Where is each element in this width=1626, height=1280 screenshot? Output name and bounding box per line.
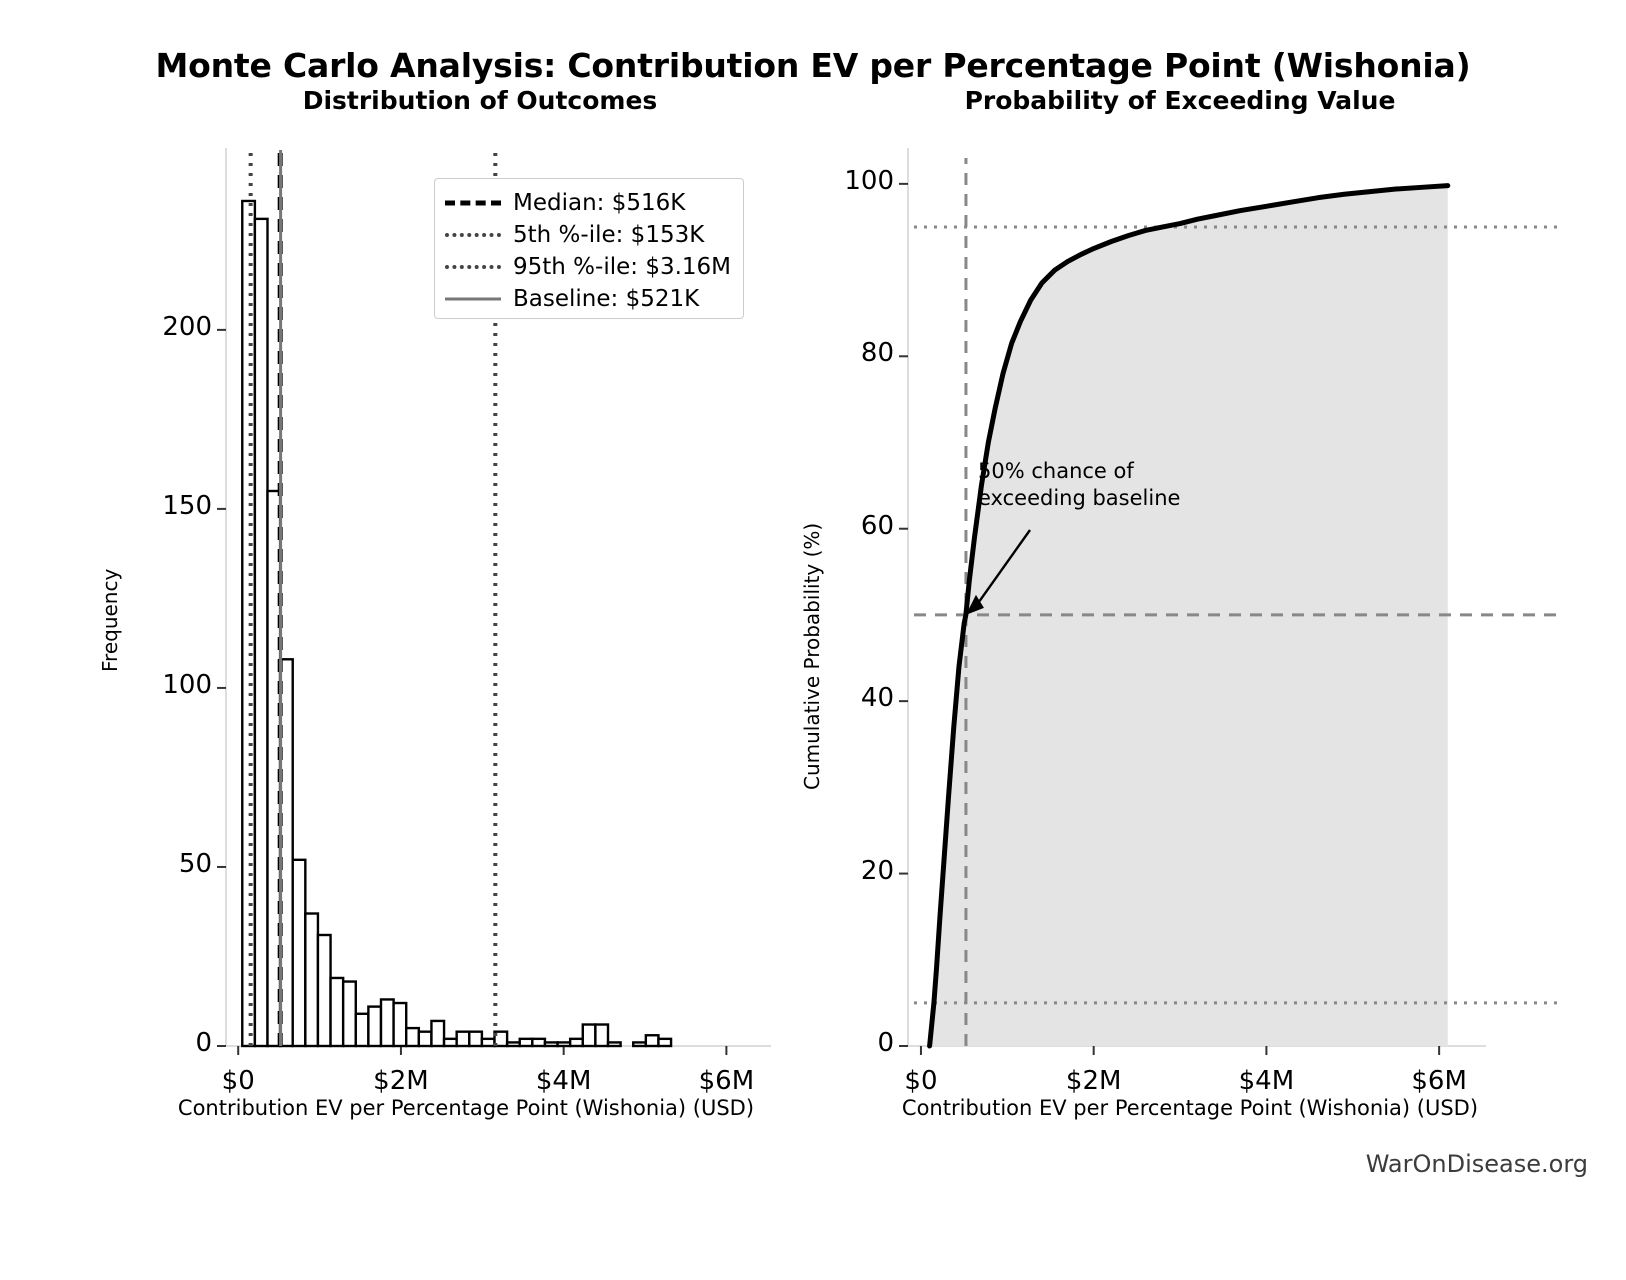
y-ticklabel-right-100: 100 [764,166,894,196]
x-ticklabel-left-0: $0 [178,1066,298,1096]
legend-label: 95th %-ile: $3.16M [513,254,731,280]
figure-canvas: Monte Carlo Analysis: Contribution EV pe… [0,0,1626,1280]
legend-swatch-dotted-icon [445,226,501,244]
legend-label: Baseline: $521K [513,286,699,312]
legend-swatch-solid-icon [445,290,501,308]
x-ticklabel-left-1: $2M [341,1066,461,1096]
x-ticklabel-left-3: $6M [666,1066,786,1096]
x-ticklabel-right-1: $2M [1034,1066,1154,1096]
legend-item[interactable]: 5th %-ile: $153K [445,219,704,250]
x-ticklabel-right-3: $6M [1379,1066,1499,1096]
y-axis-label-right: Cumulative Probability (%) [800,523,824,790]
y-ticklabel-right-0: 0 [764,1028,894,1058]
cdf-annotation-line1: 50% chance of [978,458,1180,485]
legend: Median: $516K5th %-ile: $153K95th %-ile:… [434,178,744,319]
y-ticklabel-left-100: 100 [82,670,212,700]
legend-swatch-dotted-icon [445,258,501,276]
watermark: WarOnDisease.org [1366,1150,1588,1178]
legend-swatch-dashed-icon [445,194,501,212]
x-ticklabel-left-2: $4M [504,1066,624,1096]
y-ticklabel-right-80: 80 [764,338,894,368]
y-ticklabel-left-150: 150 [82,491,212,521]
y-ticklabel-right-60: 60 [764,511,894,541]
legend-label: Median: $516K [513,190,685,216]
legend-item[interactable]: Baseline: $521K [445,283,699,314]
x-ticklabel-right-2: $4M [1206,1066,1326,1096]
y-ticklabel-right-20: 20 [764,856,894,886]
cdf-annotation: 50% chance of exceeding baseline [978,458,1180,512]
legend-item[interactable]: Median: $516K [445,187,685,218]
x-axis-label-right: Contribution EV per Percentage Point (Wi… [790,1096,1590,1120]
y-ticklabel-left-50: 50 [82,849,212,879]
cdf-annotation-line2: exceeding baseline [978,485,1180,512]
legend-label: 5th %-ile: $153K [513,222,704,248]
x-ticklabel-right-0: $0 [861,1066,981,1096]
y-ticklabel-left-0: 0 [82,1028,212,1058]
y-ticklabel-right-40: 40 [764,683,894,713]
y-ticklabel-left-200: 200 [82,312,212,342]
legend-item[interactable]: 95th %-ile: $3.16M [445,251,731,282]
